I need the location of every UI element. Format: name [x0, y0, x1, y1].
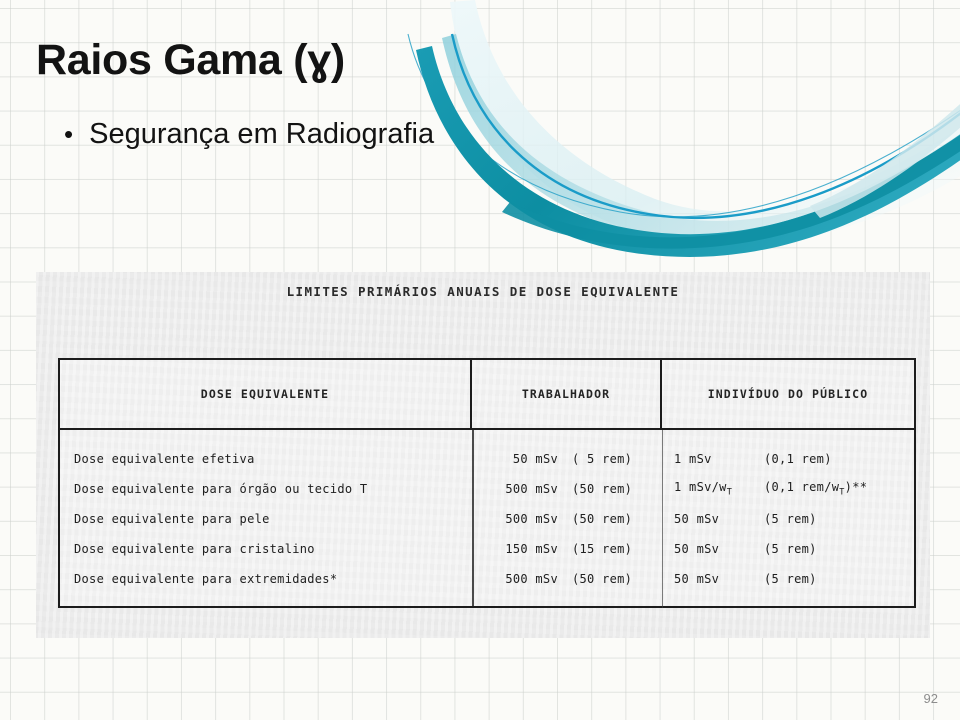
- column-header-dose-equivalente: DOSE EQUIVALENTE: [60, 360, 472, 428]
- swoosh-mid-ribbon: [442, 34, 960, 243]
- swoosh-lower-sweep: [502, 122, 960, 249]
- cell-dose-label: Dose equivalente para órgão ou tecido T: [60, 482, 472, 496]
- cell-dose-label: Dose equivalente para extremidades*: [60, 572, 472, 586]
- cell-dose-label: Dose equivalente para pele: [60, 512, 472, 526]
- decorative-swoosh-graphic: [380, 0, 960, 264]
- slide-canvas: Raios Gama (ɣ) • Segurança em Radiografi…: [0, 0, 960, 720]
- cell-worker-sv: 150 mSv: [472, 542, 564, 556]
- cell-public-rem-footnote: )**: [845, 480, 868, 494]
- cell-public-rem: (0,1 rem): [758, 452, 914, 466]
- cell-worker-rem: (15 rem): [564, 542, 662, 556]
- table-row: Dose equivalente para pele 500 mSv (50 r…: [60, 504, 914, 534]
- cell-public-sv: 50 mSv: [662, 572, 758, 586]
- cell-public-rem-text: (0,1 rem/w: [764, 480, 839, 494]
- table-row: Dose equivalente para órgão ou tecido T …: [60, 474, 914, 504]
- cell-public-rem: (0,1 rem/wT)**: [758, 480, 914, 497]
- cell-dose-label: Dose equivalente para cristalino: [60, 542, 472, 556]
- table-row: Dose equivalente para extremidades* 500 …: [60, 564, 914, 594]
- bullet-item-label: Segurança em Radiografia: [89, 118, 434, 151]
- cell-worker-sv: 500 mSv: [472, 482, 564, 496]
- cell-public-sv: 1 mSv: [662, 452, 758, 466]
- cell-worker-sv: 500 mSv: [472, 572, 564, 586]
- swoosh-pale-wash: [450, 0, 960, 245]
- swoosh-main-band: [416, 46, 960, 257]
- cell-public-rem: (5 rem): [758, 512, 914, 526]
- table-row: Dose equivalente para cristalino 150 mSv…: [60, 534, 914, 564]
- cell-worker-rem: (50 rem): [564, 572, 662, 586]
- cell-worker-sv: 50 mSv: [472, 452, 564, 466]
- cell-public-rem: (5 rem): [758, 572, 914, 586]
- cell-public-sv: 50 mSv: [662, 542, 758, 556]
- bullet-list-item: • Segurança em Radiografia: [64, 118, 434, 151]
- column-header-individuo-do-publico: INDIVÍDUO DO PÚBLICO: [662, 360, 914, 428]
- figure-caption: LIMITES PRIMÁRIOS ANUAIS DE DOSE EQUIVAL…: [36, 284, 930, 299]
- column-header-trabalhador: TRABALHADOR: [472, 360, 662, 428]
- swoosh-right-pale-ribbon: [810, 86, 960, 218]
- table-header-row: DOSE EQUIVALENTE TRABALHADOR INDIVÍDUO D…: [60, 360, 914, 430]
- cell-public-sv-subscript: T: [727, 488, 732, 498]
- scanned-table-figure: LIMITES PRIMÁRIOS ANUAIS DE DOSE EQUIVAL…: [36, 272, 930, 638]
- dose-limits-table: DOSE EQUIVALENTE TRABALHADOR INDIVÍDUO D…: [58, 358, 916, 608]
- cell-dose-label: Dose equivalente efetiva: [60, 452, 472, 466]
- table-row: Dose equivalente efetiva 50 mSv ( 5 rem)…: [60, 444, 914, 474]
- table-body: Dose equivalente efetiva 50 mSv ( 5 rem)…: [60, 430, 914, 608]
- cell-worker-rem: ( 5 rem): [564, 452, 662, 466]
- swoosh-thin-curve: [452, 34, 960, 218]
- cell-public-rem: (5 rem): [758, 542, 914, 556]
- cell-public-sv-text: 1 mSv/w: [674, 480, 727, 494]
- cell-worker-rem: (50 rem): [564, 482, 662, 496]
- cell-worker-sv: 500 mSv: [472, 512, 564, 526]
- cell-public-sv: 1 mSv/wT: [662, 480, 758, 497]
- cell-worker-rem: (50 rem): [564, 512, 662, 526]
- page-number: 92: [924, 691, 938, 706]
- bullet-marker-icon: •: [64, 121, 73, 147]
- page-title: Raios Gama (ɣ): [36, 36, 345, 85]
- cell-public-sv: 50 mSv: [662, 512, 758, 526]
- swoosh-hairline-upper: [408, 34, 960, 217]
